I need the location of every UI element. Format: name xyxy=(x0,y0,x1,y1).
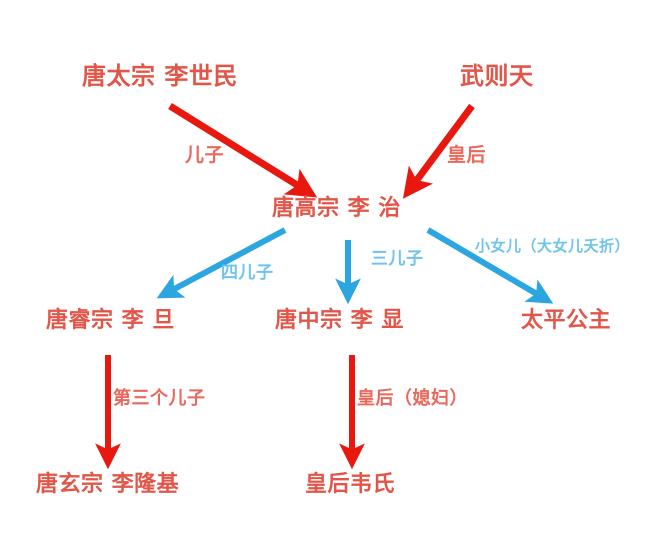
node-xuanzong: 唐玄宗 李隆基 xyxy=(36,474,179,496)
node-wuzetian: 武则天 xyxy=(460,64,534,88)
edge-label-youngest-daughter: 小女儿（大女儿夭折） xyxy=(475,239,630,254)
node-gaozong: 唐高宗 李 治 xyxy=(272,198,401,220)
edge-label-third-son: 三儿子 xyxy=(371,251,424,268)
edge-label-empress-daughter-in-law: 皇后（媳妇） xyxy=(357,390,468,408)
node-taizong: 唐太宗 李世民 xyxy=(82,64,238,88)
node-empress-wei: 皇后韦氏 xyxy=(305,474,395,496)
family-relationship-diagram: 唐太宗 李世民 武则天 唐高宗 李 治 唐睿宗 李 旦 唐中宗 李 显 太平公主… xyxy=(0,0,646,556)
node-zhongzong: 唐中宗 李 显 xyxy=(275,310,404,332)
edge-label-third-child: 第三个儿子 xyxy=(113,390,206,408)
edge-label-fourth-son: 四儿子 xyxy=(221,265,274,282)
edge-label-son: 儿子 xyxy=(185,146,224,165)
node-ruizong: 唐睿宗 李 旦 xyxy=(46,310,175,332)
node-taiping: 太平公主 xyxy=(521,310,611,332)
edge-label-empress: 皇后 xyxy=(447,146,486,165)
